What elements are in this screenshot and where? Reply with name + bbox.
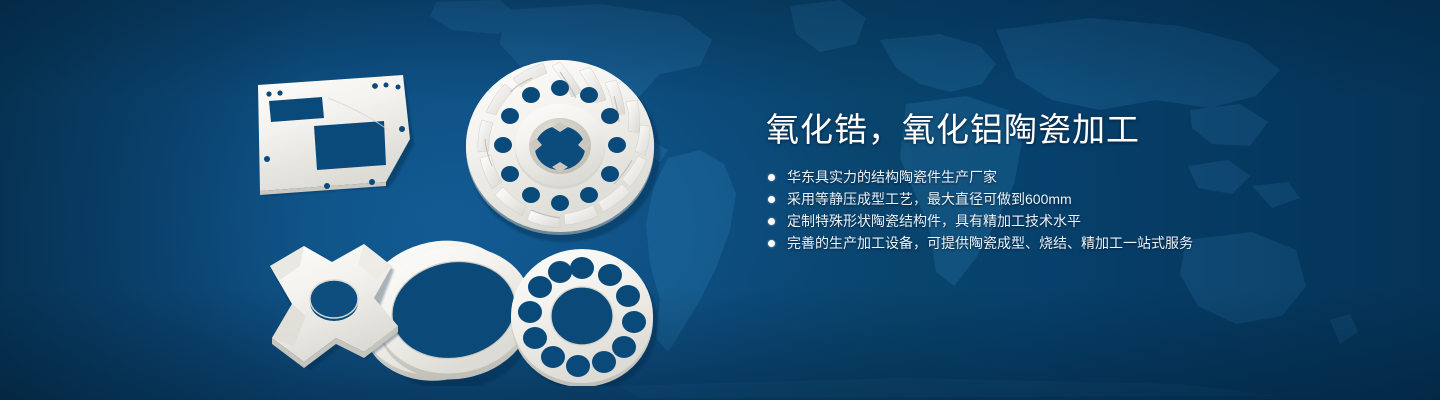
promo-banner: 氧化锆，氧化铝陶瓷加工 华东具实力的结构陶瓷件生产厂家 采用等静压成型工艺，最大… <box>0 0 1440 400</box>
feature-list: 华东具实力的结构陶瓷件生产厂家 采用等静压成型工艺，最大直径可做到600mm 定… <box>766 166 1386 254</box>
list-item: 华东具实力的结构陶瓷件生产厂家 <box>766 166 1386 188</box>
product-flat-plate <box>258 75 414 196</box>
page-title: 氧化锆，氧化铝陶瓷加工 <box>766 108 1386 152</box>
list-item-label: 定制特殊形状陶瓷结构件，具有精加工技术水平 <box>787 213 1081 229</box>
list-item-label: 采用等静压成型工艺，最大直径可做到600mm <box>787 191 1072 207</box>
bullet-dot-icon <box>768 218 775 225</box>
list-item-label: 华东具实力的结构陶瓷件生产厂家 <box>787 169 997 185</box>
list-item-label: 完善的生产加工设备，可提供陶瓷成型、烧结、精加工一站式服务 <box>787 235 1193 251</box>
banner-copy: 氧化锆，氧化铝陶瓷加工 华东具实力的结构陶瓷件生产厂家 采用等静压成型工艺，最大… <box>766 108 1386 254</box>
bullet-dot-icon <box>768 240 775 247</box>
product-perforated-ring-plate <box>511 249 658 386</box>
list-item: 完善的生产加工设备，可提供陶瓷成型、烧结、精加工一站式服务 <box>766 232 1386 254</box>
product-photo-group <box>236 36 666 386</box>
product-impeller-disc <box>466 60 660 242</box>
bullet-dot-icon <box>768 174 775 181</box>
list-item: 定制特殊形状陶瓷结构件，具有精加工技术水平 <box>766 210 1386 232</box>
list-item: 采用等静压成型工艺，最大直径可做到600mm <box>766 188 1386 210</box>
bullet-dot-icon <box>768 196 775 203</box>
